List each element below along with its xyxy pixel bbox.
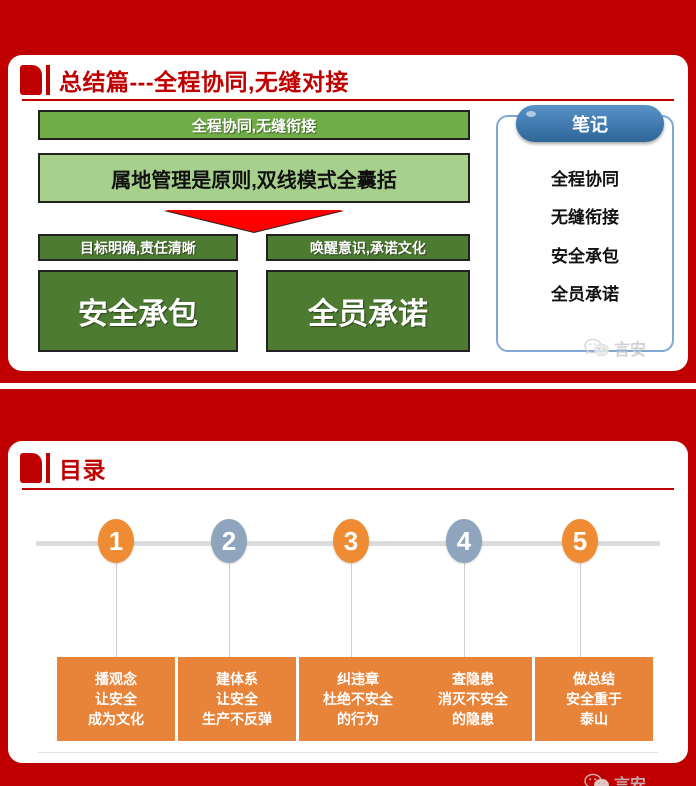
timeline-node-1[interactable]: 1 bbox=[98, 519, 134, 563]
timeline-box-1-line-1: 播观念 bbox=[95, 669, 137, 689]
timeline-node-3[interactable]: 3 bbox=[333, 519, 369, 563]
banner-principle: 属地管理是原则,双线模式全囊括 bbox=[38, 153, 470, 203]
timeline-stem-2 bbox=[229, 553, 230, 657]
pillar-1: 安全承包 bbox=[38, 270, 238, 352]
timeline-node-2[interactable]: 2 bbox=[211, 519, 247, 563]
heading-rule bbox=[22, 99, 674, 101]
timeline-box-5-line-2: 安全重于 bbox=[566, 689, 622, 709]
note-card: 全程协同 无缝衔接 安全承包 全员承诺 bbox=[496, 115, 674, 352]
sub-label-2: 唤醒意识,承诺文化 bbox=[266, 234, 470, 261]
timeline-stem-1 bbox=[116, 553, 117, 657]
page-title: 总结篇---全程协同,无缝对接 bbox=[59, 63, 349, 97]
note-items: 全程协同 无缝衔接 安全承包 全员承诺 bbox=[498, 165, 672, 305]
timeline-stem-3 bbox=[351, 553, 352, 657]
timeline-box-2[interactable]: 建体系 让安全 生产不反弹 bbox=[178, 657, 296, 741]
timeline-box-2-line-1: 建体系 bbox=[216, 669, 258, 689]
heading-rule bbox=[22, 488, 674, 490]
pillar-1-text: 安全承包 bbox=[78, 289, 198, 333]
timeline-node-4-number: 4 bbox=[457, 526, 471, 557]
note-item-2: 无缝衔接 bbox=[551, 203, 619, 228]
timeline-box-4[interactable]: 查隐患 消灭不安全 的隐患 bbox=[414, 657, 532, 741]
sub-label-1: 目标明确,责任清晰 bbox=[38, 234, 238, 261]
slide-summary-card: 总结篇---全程协同,无缝对接 全程协同,无缝衔接 属地管理是原则,双线模式全囊… bbox=[8, 55, 688, 371]
timeline-box-1-line-3: 成为文化 bbox=[88, 709, 144, 729]
slide-contents-heading: 目录 bbox=[20, 451, 106, 485]
down-arrow-icon bbox=[164, 210, 344, 232]
timeline-node-3-number: 3 bbox=[344, 526, 358, 557]
page-marker-bar-icon bbox=[46, 453, 50, 483]
timeline-box-1-line-2: 让安全 bbox=[95, 689, 137, 709]
note-item-4: 全员承诺 bbox=[551, 280, 619, 305]
slide-contents: 目录 1 2 3 4 5 bbox=[0, 389, 696, 786]
pillar-2-text: 全员承诺 bbox=[308, 289, 428, 333]
watermark-slide2: 言安 bbox=[584, 771, 646, 786]
page-marker-icon bbox=[20, 65, 42, 95]
timeline-node-2-number: 2 bbox=[222, 526, 236, 557]
slide-summary: 总结篇---全程协同,无缝对接 全程协同,无缝衔接 属地管理是原则,双线模式全囊… bbox=[0, 0, 696, 383]
timeline-box-4-line-3: 的隐患 bbox=[452, 709, 494, 729]
timeline-box-5-line-1: 做总结 bbox=[573, 669, 615, 689]
timeline-box-3-line-1: 纠违章 bbox=[337, 669, 379, 689]
contents-foot-rule bbox=[38, 752, 658, 753]
note-item-1: 全程协同 bbox=[551, 165, 619, 190]
timeline-box-3-line-2: 杜绝不安全 bbox=[323, 689, 393, 709]
wechat-icon bbox=[584, 338, 610, 358]
page-marker-bar-icon bbox=[46, 65, 50, 95]
contents-title: 目录 bbox=[59, 451, 106, 485]
watermark-slide1-text: 言安 bbox=[614, 336, 646, 360]
timeline-node-5[interactable]: 5 bbox=[562, 519, 598, 563]
timeline-box-4-line-1: 查隐患 bbox=[452, 669, 494, 689]
slide-contents-card: 目录 1 2 3 4 5 bbox=[8, 441, 688, 763]
timeline-box-5[interactable]: 做总结 安全重于 泰山 bbox=[535, 657, 653, 741]
timeline-node-5-number: 5 bbox=[573, 526, 587, 557]
slide-summary-heading: 总结篇---全程协同,无缝对接 bbox=[20, 63, 349, 97]
timeline-box-2-line-2: 让安全 bbox=[216, 689, 258, 709]
sub-label-1-text: 目标明确,责任清晰 bbox=[80, 238, 196, 258]
note-item-3: 安全承包 bbox=[551, 242, 619, 267]
wechat-icon bbox=[584, 773, 610, 786]
watermark-slide1: 言安 bbox=[584, 336, 646, 360]
note-title-label: 笔记 bbox=[572, 111, 608, 137]
banner-collaboration-label: 全程协同,无缝衔接 bbox=[192, 115, 316, 136]
page-marker-icon bbox=[20, 453, 42, 483]
timeline-box-3[interactable]: 纠违章 杜绝不安全 的行为 bbox=[299, 657, 417, 741]
pillar-2: 全员承诺 bbox=[266, 270, 470, 352]
banner-collaboration: 全程协同,无缝衔接 bbox=[38, 110, 470, 140]
timeline-box-4-line-2: 消灭不安全 bbox=[438, 689, 508, 709]
timeline-stem-5 bbox=[580, 553, 581, 657]
banner-principle-label: 属地管理是原则,双线模式全囊括 bbox=[111, 164, 397, 193]
note-title-pill: 笔记 bbox=[516, 105, 664, 142]
timeline-box-2-line-3: 生产不反弹 bbox=[202, 709, 272, 729]
screenshot-page: 总结篇---全程协同,无缝对接 全程协同,无缝衔接 属地管理是原则,双线模式全囊… bbox=[0, 0, 696, 786]
timeline-box-1[interactable]: 播观念 让安全 成为文化 bbox=[57, 657, 175, 741]
timeline-node-1-number: 1 bbox=[109, 526, 123, 557]
timeline-box-3-line-3: 的行为 bbox=[337, 709, 379, 729]
timeline-node-4[interactable]: 4 bbox=[446, 519, 482, 563]
watermark-slide2-text: 言安 bbox=[614, 771, 646, 786]
timeline-box-5-line-3: 泰山 bbox=[580, 709, 608, 729]
sub-label-2-text: 唤醒意识,承诺文化 bbox=[310, 238, 426, 258]
timeline-stem-4 bbox=[464, 553, 465, 657]
